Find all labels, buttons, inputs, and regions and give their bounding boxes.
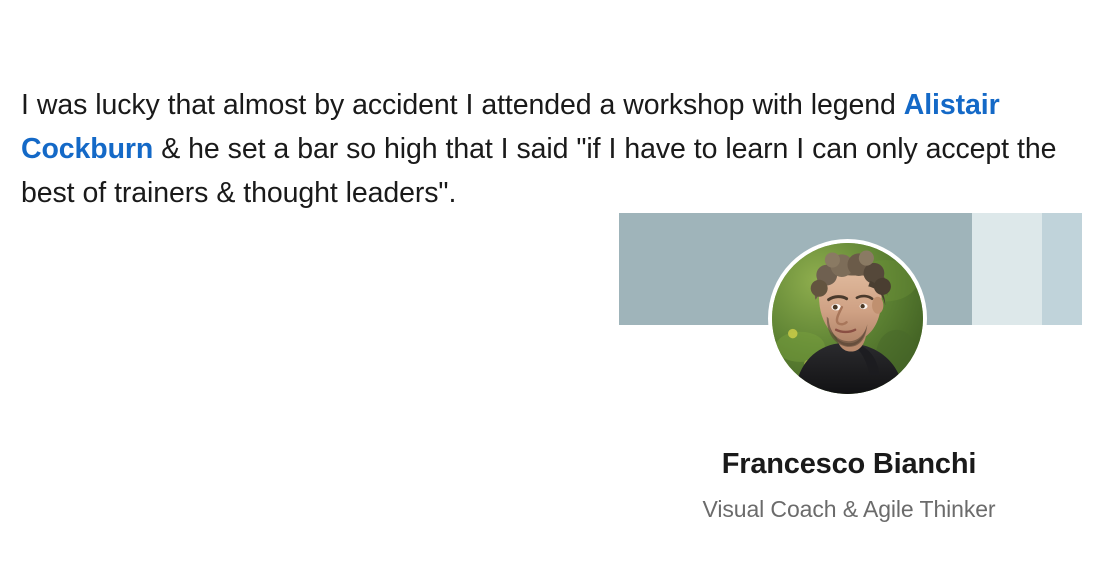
author-title: Visual Coach & Agile Thinker	[619, 492, 1079, 526]
quote-segment-after-link: & he set a bar so high that I said "if I…	[21, 133, 1056, 209]
testimonial-quote: I was lucky that almost by accident I at…	[21, 83, 1077, 215]
avatar	[768, 239, 927, 398]
cover-band-mid	[1042, 213, 1082, 325]
quote-segment-before-link: I was lucky that almost by accident I at…	[21, 89, 904, 121]
author-identity: Francesco Bianchi Visual Coach & Agile T…	[619, 445, 1079, 526]
avatar-photo	[772, 243, 923, 394]
avatar-portrait-icon	[772, 243, 923, 394]
cover-band-pale	[972, 213, 1042, 325]
author-name: Francesco Bianchi	[619, 445, 1079, 483]
